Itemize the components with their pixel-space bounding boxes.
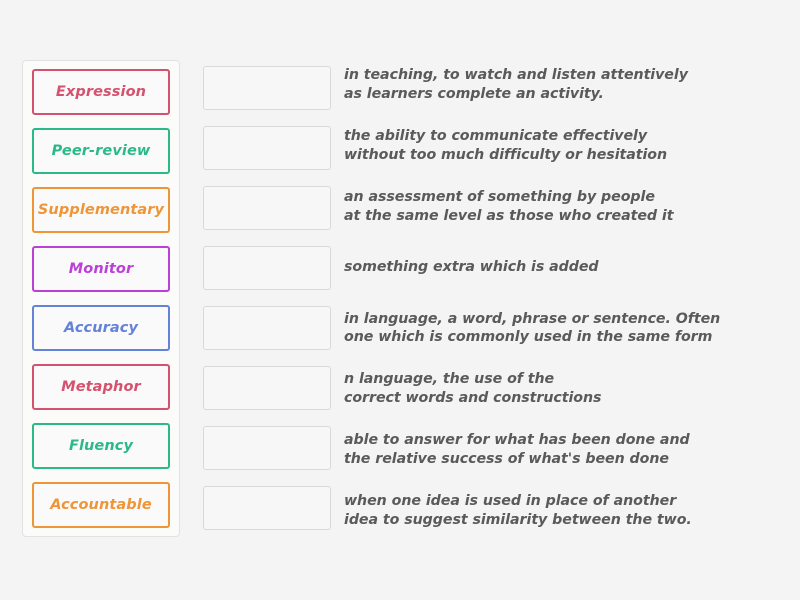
drop-zone-5[interactable]	[203, 366, 331, 410]
definitions-column: in teaching, to watch and listen attenti…	[344, 62, 774, 534]
word-tile-label: Expression	[56, 84, 146, 100]
word-tile-label: Accuracy	[64, 320, 138, 336]
word-tile-0[interactable]: Expression	[32, 69, 170, 115]
definition-text: able to answer for what has been done an…	[344, 431, 774, 468]
word-tile-1[interactable]: Peer-review	[32, 128, 170, 174]
match-up-activity: Expression Peer-review Supplementary Mon…	[0, 0, 800, 600]
definition-row: when one idea is used in place of anothe…	[344, 488, 774, 534]
drop-zone-7[interactable]	[203, 486, 331, 530]
word-tile-7[interactable]: Accountable	[32, 482, 170, 528]
word-tile-3[interactable]: Monitor	[32, 246, 170, 292]
drop-zone-2[interactable]	[203, 186, 331, 230]
drop-zone-4[interactable]	[203, 306, 331, 350]
definition-text: in language, a word, phrase or sentence.…	[344, 310, 774, 347]
word-tile-label: Fluency	[69, 438, 133, 454]
word-tile-2[interactable]: Supplementary	[32, 187, 170, 233]
definition-row: in teaching, to watch and listen attenti…	[344, 62, 774, 108]
drop-zone-1[interactable]	[203, 126, 331, 170]
drop-zone-3[interactable]	[203, 246, 331, 290]
definition-text: n language, the use of the correct words…	[344, 370, 774, 407]
word-tile-label: Metaphor	[61, 379, 141, 395]
drop-zone-6[interactable]	[203, 426, 331, 470]
definition-text: the ability to communicate effectively w…	[344, 127, 774, 164]
definition-row: an assessment of something by people at …	[344, 184, 774, 230]
word-tile-label: Monitor	[69, 261, 133, 277]
drop-zone-0[interactable]	[203, 66, 331, 110]
definition-text: when one idea is used in place of anothe…	[344, 492, 774, 529]
word-tile-label: Peer-review	[52, 143, 151, 159]
drop-zone-column	[203, 66, 331, 530]
word-tile-5[interactable]: Metaphor	[32, 364, 170, 410]
word-tile-label: Accountable	[50, 497, 152, 513]
definition-row: the ability to communicate effectively w…	[344, 123, 774, 169]
word-tile-4[interactable]: Accuracy	[32, 305, 170, 351]
definition-row: able to answer for what has been done an…	[344, 427, 774, 473]
word-tile-label: Supplementary	[38, 202, 164, 218]
definition-row: in language, a word, phrase or sentence.…	[344, 305, 774, 351]
definition-row: n language, the use of the correct words…	[344, 366, 774, 412]
definition-row: something extra which is added	[344, 245, 774, 291]
definition-text: an assessment of something by people at …	[344, 188, 774, 225]
word-tile-6[interactable]: Fluency	[32, 423, 170, 469]
definition-text: in teaching, to watch and listen attenti…	[344, 66, 774, 103]
word-tiles-panel: Expression Peer-review Supplementary Mon…	[22, 60, 180, 537]
definition-text: something extra which is added	[344, 258, 774, 277]
